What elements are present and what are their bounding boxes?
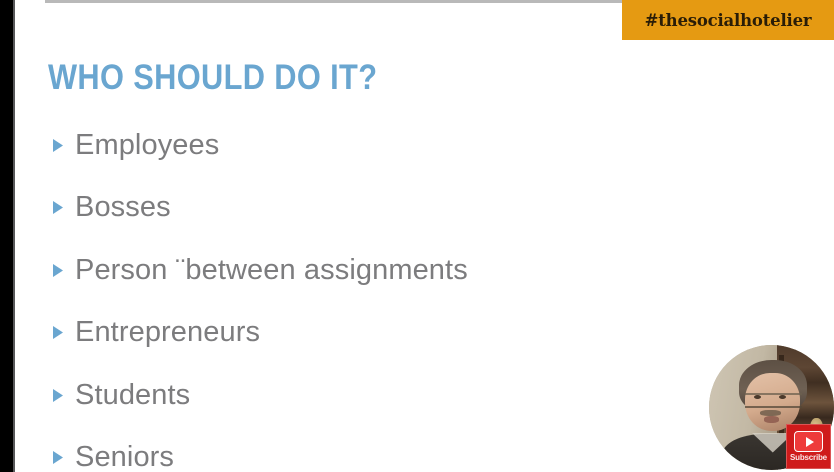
presenter-glasses [745, 393, 801, 408]
list-item-label: Seniors [75, 443, 174, 472]
triangle-right-icon [51, 389, 75, 402]
triangle-right-icon [51, 326, 75, 339]
hashtag-banner: #thesocialhotelier [622, 0, 834, 40]
list-item: Person ¨between assignments [51, 239, 751, 302]
youtube-play-icon [794, 431, 823, 452]
page-title: WHO SHOULD DO IT? [48, 59, 377, 97]
hashtag-text: #thesocialhotelier [645, 11, 812, 30]
triangle-right-icon [51, 451, 75, 464]
subscribe-label: Subscribe [790, 454, 827, 462]
list-item-label: Bosses [75, 193, 171, 222]
presenter-eye-left [754, 395, 761, 399]
list-item: Entrepreneurs [51, 302, 751, 365]
presenter-eye-right [779, 395, 786, 399]
letterbox-bar-left [0, 0, 13, 472]
presenter-mustache [760, 410, 781, 416]
list-item: Students [51, 364, 751, 427]
list-item-label: Employees [75, 131, 219, 160]
list-item-label: Person ¨between assignments [75, 256, 468, 285]
video-player-frame: #thesocialhotelier WHO SHOULD DO IT? Emp… [0, 0, 834, 472]
list-item-label: Entrepreneurs [75, 318, 260, 347]
list-item: Seniors [51, 427, 751, 472]
list-item-label: Students [75, 381, 190, 410]
presenter-mouth [764, 416, 779, 423]
triangle-right-icon [51, 139, 75, 152]
list-item: Bosses [51, 177, 751, 240]
triangle-right-icon [51, 201, 75, 214]
bullet-list: Employees Bosses Person ¨between assignm… [51, 114, 751, 472]
list-item: Employees [51, 114, 751, 177]
subscribe-button[interactable]: Subscribe [786, 424, 831, 469]
letterbox-edge-line [13, 0, 15, 472]
triangle-right-icon [51, 264, 75, 277]
